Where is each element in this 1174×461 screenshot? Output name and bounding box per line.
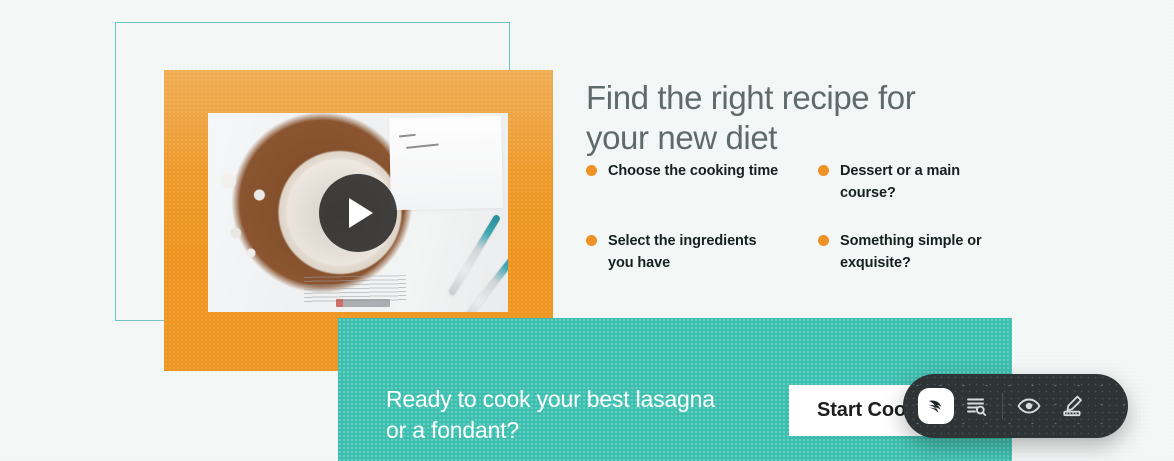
bullet-label: Something simple or exquisite?: [840, 230, 982, 274]
play-triangle-icon: [349, 198, 373, 228]
photo-pen-two: [459, 249, 508, 312]
toolbar-divider: [1002, 393, 1003, 419]
inspect-document-button[interactable]: [954, 384, 998, 428]
app-logo-button[interactable]: [918, 388, 954, 424]
bullet-label: Choose the cooking time: [608, 160, 778, 182]
preview-button[interactable]: [1007, 384, 1051, 428]
feature-bullet-list: Choose the cooking time Dessert or a mai…: [586, 160, 1001, 274]
bullet-dot-icon: [818, 235, 829, 246]
play-button[interactable]: Play video: [319, 174, 397, 252]
floating-toolbar: [903, 374, 1128, 438]
bullet-dot-icon: [818, 165, 829, 176]
photo-magazine-logo: [336, 299, 390, 307]
bullet-item-4: Something simple or exquisite?: [818, 230, 1001, 274]
bullet-item-3: Select the ingredients you have: [586, 230, 818, 274]
swirl-logo-icon: [925, 395, 947, 417]
bullet-dot-icon: [586, 165, 597, 176]
bullet-item-2: Dessert or a main course?: [818, 160, 1001, 204]
annotate-button[interactable]: [1051, 384, 1095, 428]
photo-garnish-detail: [216, 171, 286, 271]
eye-icon: [1017, 394, 1041, 418]
page-title: Find the right recipe for your new diet: [586, 78, 1006, 158]
bullet-label: Dessert or a main course?: [840, 160, 960, 204]
cta-headline: Ready to cook your best lasagna or a fon…: [386, 384, 715, 446]
video-thumbnail-card[interactable]: Play video: [208, 113, 508, 312]
highlighter-pen-icon: [1061, 394, 1085, 418]
bullet-dot-icon: [586, 235, 597, 246]
bullet-label: Select the ingredients you have: [608, 230, 756, 274]
bullet-item-1: Choose the cooking time: [586, 160, 818, 204]
document-search-icon: [964, 394, 988, 418]
